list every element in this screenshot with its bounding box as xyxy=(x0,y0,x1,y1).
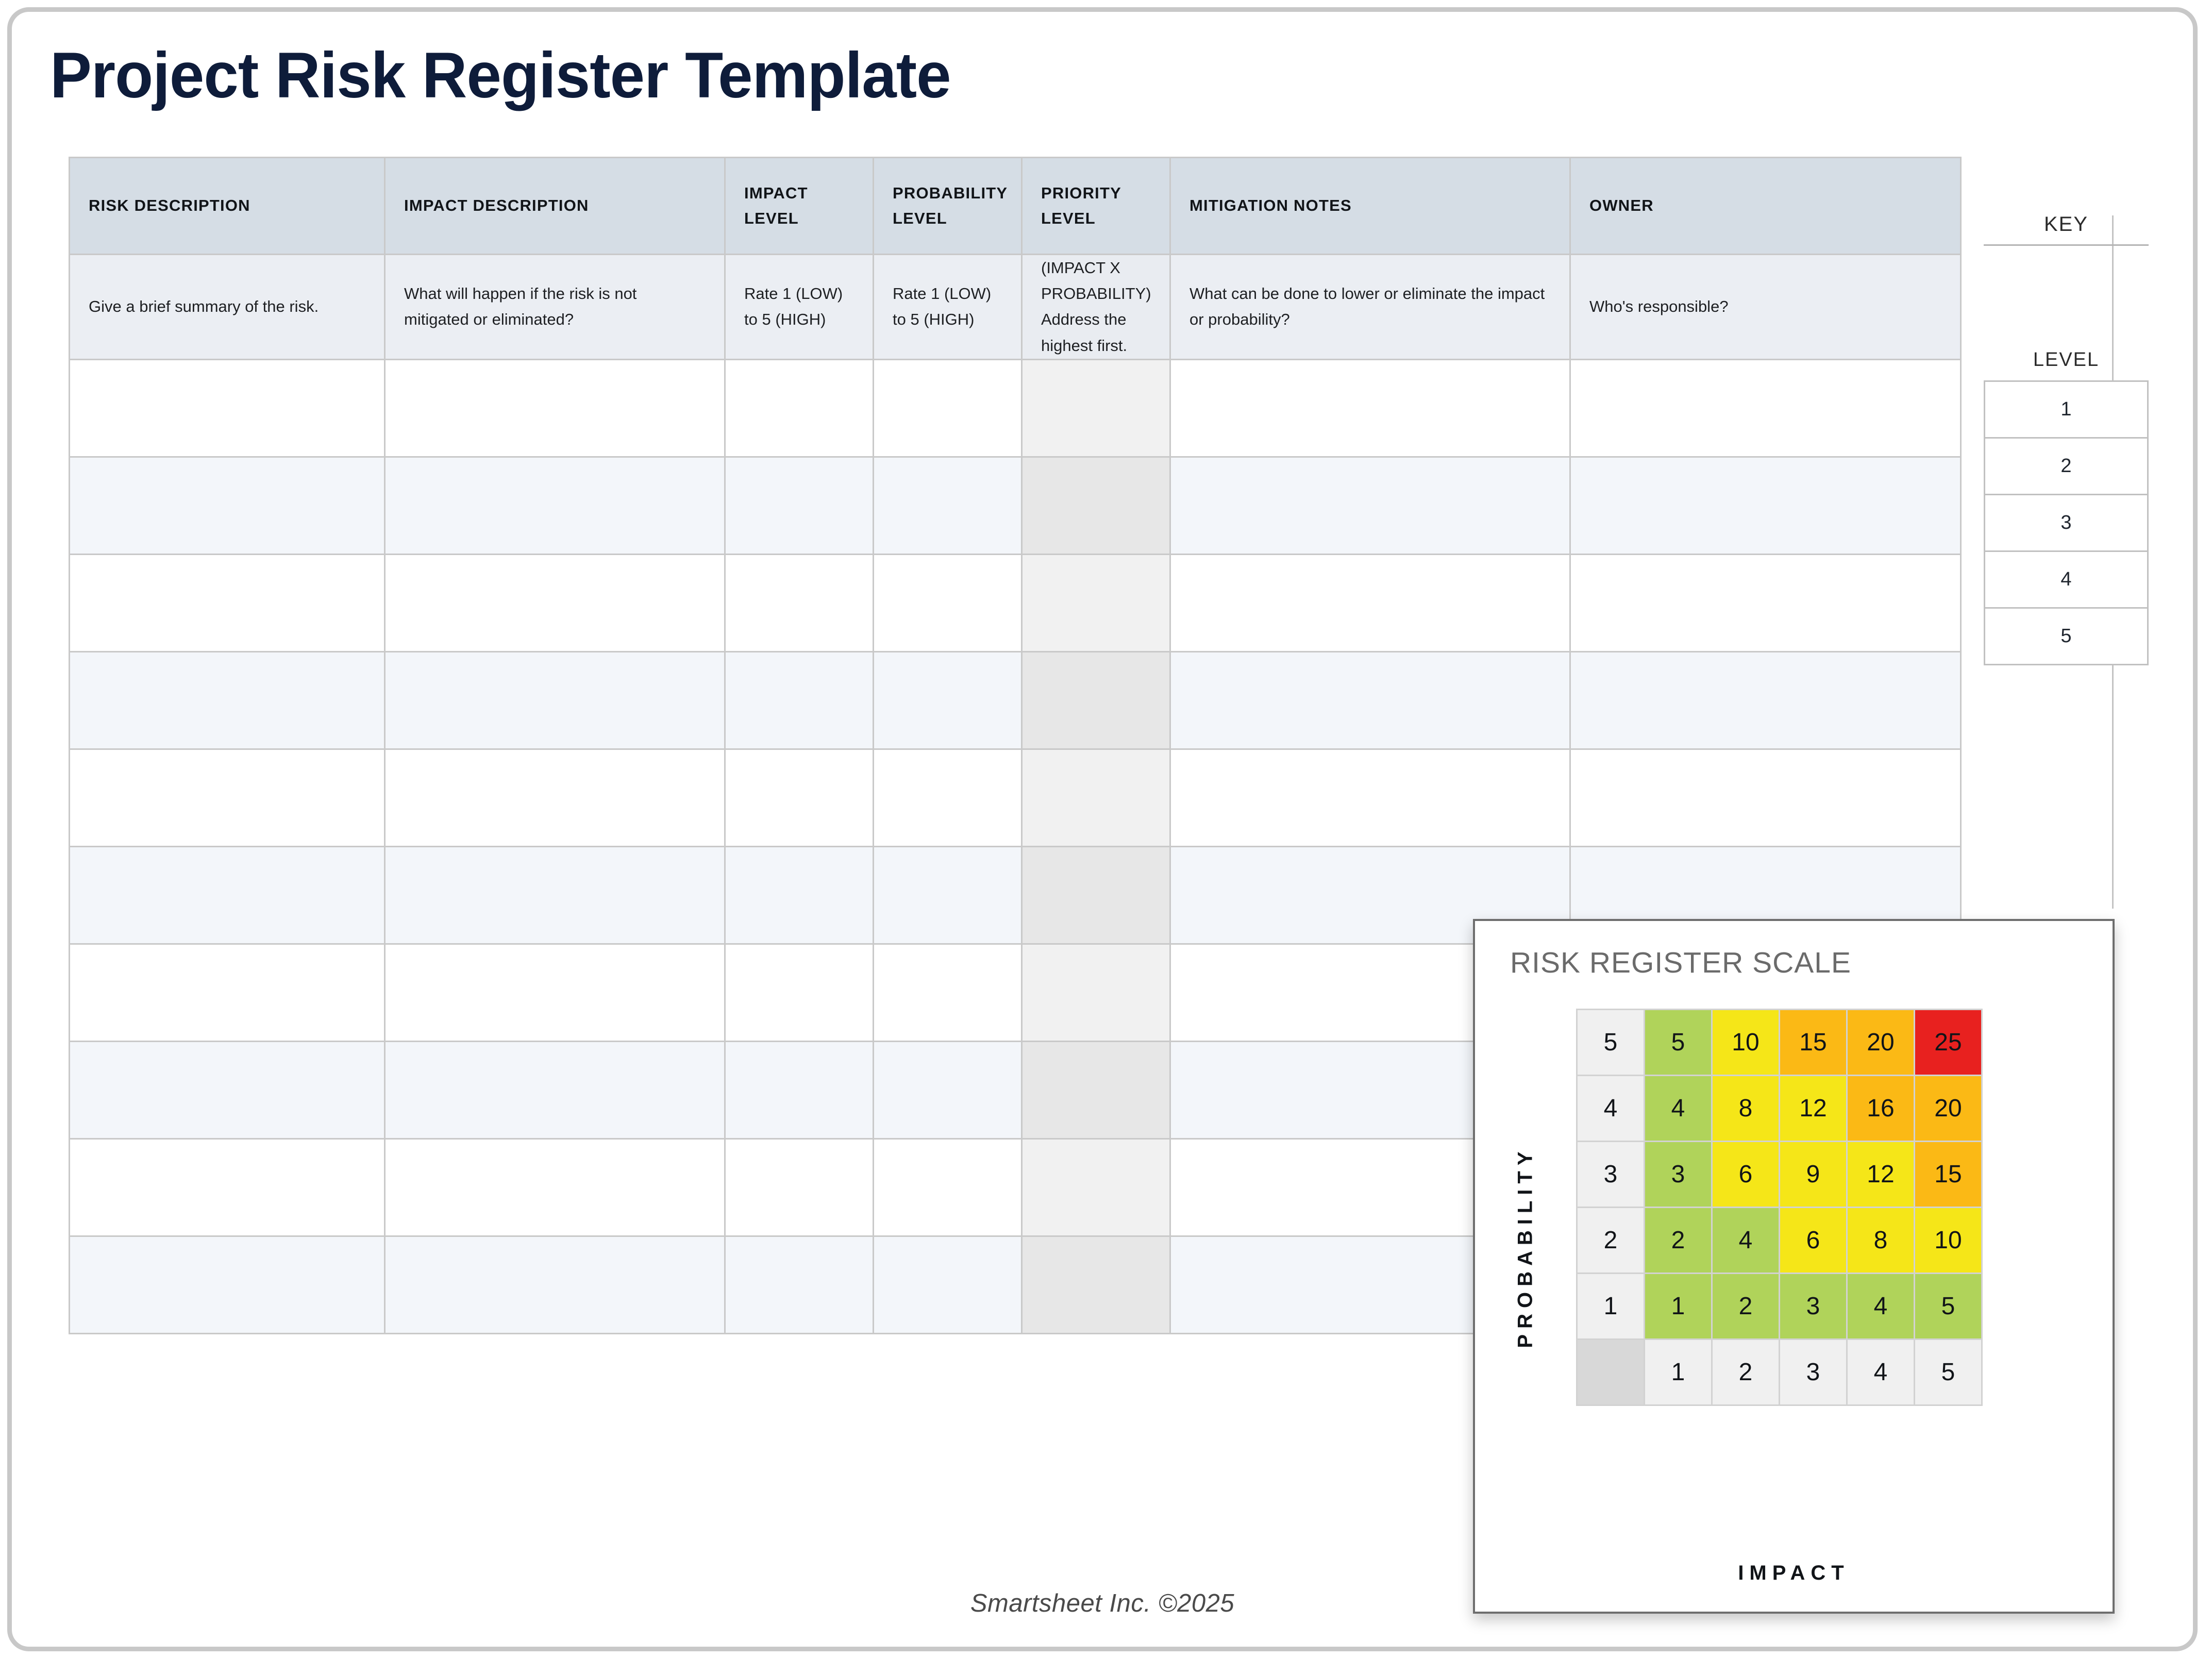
column-header-label: PRIORITY LEVEL xyxy=(1041,181,1151,230)
risk-scale-corner-cell xyxy=(1577,1339,1645,1405)
cell-priority-level[interactable] xyxy=(1022,1138,1170,1236)
risk-scale-matrix-row: 448121620 xyxy=(1577,1076,1982,1142)
risk-scale-cell[interactable]: 5 xyxy=(1915,1274,1982,1339)
cell-priority-level[interactable] xyxy=(1022,554,1170,651)
cell-text: Rate 1 (LOW) to 5 (HIGH) xyxy=(893,281,1002,332)
cell-mitigation-notes[interactable] xyxy=(1170,359,1570,457)
risk-scale-cell[interactable]: 4 xyxy=(1645,1076,1712,1142)
cell-impact-level[interactable] xyxy=(725,359,874,457)
risk-scale-cell[interactable]: 2 xyxy=(1712,1274,1780,1339)
cell-impact-description[interactable] xyxy=(385,846,725,944)
cell-text: Rate 1 (LOW) to 5 (HIGH) xyxy=(744,281,854,332)
risk-scale-cell[interactable]: 25 xyxy=(1915,1010,1982,1076)
key-panel-level-boxes: 1 2 3 4 5 xyxy=(1984,380,2149,665)
cell-probability-level[interactable] xyxy=(874,1041,1022,1138)
column-header-label: RISK DESCRIPTION xyxy=(89,193,365,218)
cell-probability-level[interactable] xyxy=(874,944,1022,1041)
cell-mitigation-notes[interactable] xyxy=(1170,651,1570,749)
cell-priority-level[interactable] xyxy=(1022,457,1170,554)
key-panel: KEY LEVEL 1 2 3 4 5 xyxy=(1984,213,2149,665)
cell-probability-level[interactable] xyxy=(874,846,1022,944)
cell-mitigation-notes[interactable] xyxy=(1170,457,1570,554)
cell-impact-level[interactable] xyxy=(725,749,874,846)
cell-risk-description[interactable] xyxy=(70,651,385,749)
level-box[interactable]: 4 xyxy=(1985,552,2147,609)
cell-risk-description[interactable] xyxy=(70,749,385,846)
table-row-blank xyxy=(70,457,1961,554)
cell-priority-level[interactable]: (IMPACT X PROBABILITY) Address the highe… xyxy=(1022,255,1170,360)
column-header-risk-description: RISK DESCRIPTION xyxy=(70,158,385,255)
level-box[interactable]: 5 xyxy=(1985,609,2147,664)
risk-scale-matrix-row: 2246810 xyxy=(1577,1208,1982,1274)
cell-probability-level[interactable] xyxy=(874,457,1022,554)
cell-impact-level[interactable]: Rate 1 (LOW) to 5 (HIGH) xyxy=(725,255,874,360)
page-title: Project Risk Register Template xyxy=(50,39,951,112)
column-header-label-line2: LEVEL xyxy=(893,206,1002,231)
risk-scale-x-tick: 2 xyxy=(1712,1339,1780,1405)
column-header-label-line1: PROBABILITY xyxy=(893,181,1002,206)
cell-risk-description[interactable] xyxy=(70,846,385,944)
key-panel-level-label: LEVEL xyxy=(1984,349,2149,371)
risk-scale-cell[interactable]: 4 xyxy=(1712,1208,1780,1274)
risk-scale-cell[interactable]: 1 xyxy=(1645,1274,1712,1339)
risk-scale-matrix-row: 5510152025 xyxy=(1577,1010,1982,1076)
cell-risk-description[interactable]: Give a brief summary of the risk. xyxy=(70,255,385,360)
risk-scale-matrix-row: 112345 xyxy=(1577,1274,1982,1339)
risk-scale-cell[interactable]: 15 xyxy=(1780,1010,1847,1076)
risk-scale-cell[interactable]: 9 xyxy=(1780,1142,1847,1208)
cell-risk-description[interactable] xyxy=(70,554,385,651)
footer-copyright: Smartsheet Inc. ©2025 xyxy=(12,1589,2193,1618)
cell-owner[interactable] xyxy=(1570,651,1961,749)
cell-risk-description[interactable] xyxy=(70,359,385,457)
level-box[interactable]: 1 xyxy=(1985,382,2147,439)
cell-owner[interactable] xyxy=(1570,554,1961,651)
column-header-probability-level: PROBABILITY LEVEL xyxy=(874,158,1022,255)
risk-scale-cell[interactable]: 10 xyxy=(1712,1010,1780,1076)
cell-risk-description[interactable] xyxy=(70,457,385,554)
column-header-label-line2: LEVEL xyxy=(744,206,854,231)
risk-scale-y-tick: 1 xyxy=(1577,1274,1645,1339)
level-box[interactable]: 2 xyxy=(1985,439,2147,495)
risk-scale-y-tick: 4 xyxy=(1577,1076,1645,1142)
cell-impact-description[interactable] xyxy=(385,944,725,1041)
cell-mitigation-notes[interactable]: What can be done to lower or eliminate t… xyxy=(1170,255,1570,360)
cell-priority-level[interactable] xyxy=(1022,846,1170,944)
risk-scale-y-tick: 3 xyxy=(1577,1142,1645,1208)
risk-scale-cell[interactable]: 8 xyxy=(1847,1208,1915,1274)
cell-text: (IMPACT X PROBABILITY) Address the highe… xyxy=(1041,255,1151,359)
cell-mitigation-notes[interactable] xyxy=(1170,749,1570,846)
risk-scale-cell[interactable]: 5 xyxy=(1645,1010,1712,1076)
cell-priority-level[interactable] xyxy=(1022,359,1170,457)
cell-impact-level[interactable] xyxy=(725,651,874,749)
cell-probability-level[interactable] xyxy=(874,1138,1022,1236)
risk-scale-x-tick: 4 xyxy=(1847,1339,1915,1405)
cell-impact-description[interactable] xyxy=(385,651,725,749)
risk-scale-cell[interactable]: 15 xyxy=(1915,1142,1982,1208)
cell-text: Who's responsible? xyxy=(1589,294,1941,320)
risk-scale-cell[interactable]: 2 xyxy=(1645,1208,1712,1274)
risk-scale-cell[interactable]: 20 xyxy=(1847,1010,1915,1076)
risk-scale-cell[interactable]: 8 xyxy=(1712,1076,1780,1142)
cell-impact-description[interactable] xyxy=(385,1236,725,1333)
cell-owner[interactable] xyxy=(1570,457,1961,554)
column-header-label: MITIGATION NOTES xyxy=(1189,193,1551,218)
column-header-owner: OWNER xyxy=(1570,158,1961,255)
table-row-blank xyxy=(70,651,1961,749)
risk-scale-x-tick: 5 xyxy=(1915,1339,1982,1405)
cell-owner[interactable] xyxy=(1570,359,1961,457)
cell-impact-description[interactable] xyxy=(385,457,725,554)
table-row-blank xyxy=(70,359,1961,457)
document-page: Project Risk Register Template RISK DESC… xyxy=(7,7,2198,1651)
cell-owner[interactable]: Who's responsible? xyxy=(1570,255,1961,360)
risk-scale-x-tick: 3 xyxy=(1780,1339,1847,1405)
cell-mitigation-notes[interactable] xyxy=(1170,554,1570,651)
cell-impact-description[interactable] xyxy=(385,554,725,651)
table-row-sample: Give a brief summary of the risk. What w… xyxy=(70,255,1961,360)
table-row-blank xyxy=(70,749,1961,846)
risk-register-scale-card: RISK REGISTER SCALE PROBABILITY 55101520… xyxy=(1473,919,2115,1614)
risk-scale-x-tick: 1 xyxy=(1645,1339,1712,1405)
cell-priority-level[interactable] xyxy=(1022,749,1170,846)
cell-impact-description[interactable]: What will happen if the risk is not miti… xyxy=(385,255,725,360)
cell-probability-level[interactable]: Rate 1 (LOW) to 5 (HIGH) xyxy=(874,255,1022,360)
column-header-label: OWNER xyxy=(1589,193,1941,218)
cell-impact-level[interactable] xyxy=(725,457,874,554)
column-header-impact-description: IMPACT DESCRIPTION xyxy=(385,158,725,255)
column-header-label: IMPACT DESCRIPTION xyxy=(404,193,706,218)
cell-owner[interactable] xyxy=(1570,749,1961,846)
cell-impact-level[interactable] xyxy=(725,554,874,651)
cell-risk-description[interactable] xyxy=(70,1041,385,1138)
risk-scale-cell[interactable]: 6 xyxy=(1712,1142,1780,1208)
register-table-header: RISK DESCRIPTION IMPACT DESCRIPTION IMPA… xyxy=(70,158,1961,255)
column-header-priority-level: PRIORITY LEVEL xyxy=(1022,158,1170,255)
cell-impact-level[interactable] xyxy=(725,1236,874,1333)
cell-impact-description[interactable] xyxy=(385,1138,725,1236)
cell-probability-level[interactable] xyxy=(874,749,1022,846)
cell-risk-description[interactable] xyxy=(70,1138,385,1236)
risk-scale-cell[interactable]: 6 xyxy=(1780,1208,1847,1274)
risk-scale-y-axis-label: PROBABILITY xyxy=(1514,1139,1537,1355)
risk-scale-matrix-row: 33691215 xyxy=(1577,1142,1982,1208)
risk-scale-x-axis-label: IMPACT xyxy=(1475,1562,2113,1585)
risk-scale-y-tick: 5 xyxy=(1577,1010,1645,1076)
header-row: RISK DESCRIPTION IMPACT DESCRIPTION IMPA… xyxy=(70,158,1961,255)
cell-risk-description[interactable] xyxy=(70,1236,385,1333)
cell-impact-level[interactable] xyxy=(725,1138,874,1236)
cell-impact-level[interactable] xyxy=(725,1041,874,1138)
risk-scale-matrix-body: 5510152025448121620336912152246810112345… xyxy=(1577,1010,1982,1405)
cell-impact-description[interactable] xyxy=(385,1041,725,1138)
cell-text: What will happen if the risk is not miti… xyxy=(404,281,706,332)
cell-priority-level[interactable] xyxy=(1022,1041,1170,1138)
level-box[interactable]: 3 xyxy=(1985,495,2147,552)
risk-scale-cell[interactable]: 3 xyxy=(1645,1142,1712,1208)
cell-impact-level[interactable] xyxy=(725,944,874,1041)
risk-scale-matrix: 5510152025448121620336912152246810112345… xyxy=(1576,1009,1983,1406)
risk-scale-cell[interactable]: 16 xyxy=(1847,1076,1915,1142)
risk-scale-y-tick: 2 xyxy=(1577,1208,1645,1274)
column-header-label-line1: IMPACT xyxy=(744,181,854,206)
risk-scale-cell[interactable]: 3 xyxy=(1780,1274,1847,1339)
cell-text: What can be done to lower or eliminate t… xyxy=(1189,281,1551,332)
risk-scale-matrix-axis-row: 12345 xyxy=(1577,1339,1982,1405)
cell-priority-level[interactable] xyxy=(1022,651,1170,749)
cell-impact-description[interactable] xyxy=(385,359,725,457)
risk-scale-cell[interactable]: 4 xyxy=(1847,1274,1915,1339)
column-header-mitigation-notes: MITIGATION NOTES xyxy=(1170,158,1570,255)
risk-scale-cell[interactable]: 20 xyxy=(1915,1076,1982,1142)
risk-scale-title: RISK REGISTER SCALE xyxy=(1510,946,1851,980)
risk-scale-cell[interactable]: 10 xyxy=(1915,1208,1982,1274)
cell-probability-level[interactable] xyxy=(874,554,1022,651)
cell-probability-level[interactable] xyxy=(874,1236,1022,1333)
risk-scale-cell[interactable]: 12 xyxy=(1847,1142,1915,1208)
cell-impact-description[interactable] xyxy=(385,749,725,846)
cell-text: Give a brief summary of the risk. xyxy=(89,294,365,320)
column-header-impact-level: IMPACT LEVEL xyxy=(725,158,874,255)
key-panel-title: KEY xyxy=(1984,213,2149,246)
table-row-blank xyxy=(70,554,1961,651)
cell-impact-level[interactable] xyxy=(725,846,874,944)
cell-probability-level[interactable] xyxy=(874,651,1022,749)
cell-risk-description[interactable] xyxy=(70,944,385,1041)
cell-probability-level[interactable] xyxy=(874,359,1022,457)
cell-priority-level[interactable] xyxy=(1022,944,1170,1041)
cell-priority-level[interactable] xyxy=(1022,1236,1170,1333)
risk-scale-cell[interactable]: 12 xyxy=(1780,1076,1847,1142)
